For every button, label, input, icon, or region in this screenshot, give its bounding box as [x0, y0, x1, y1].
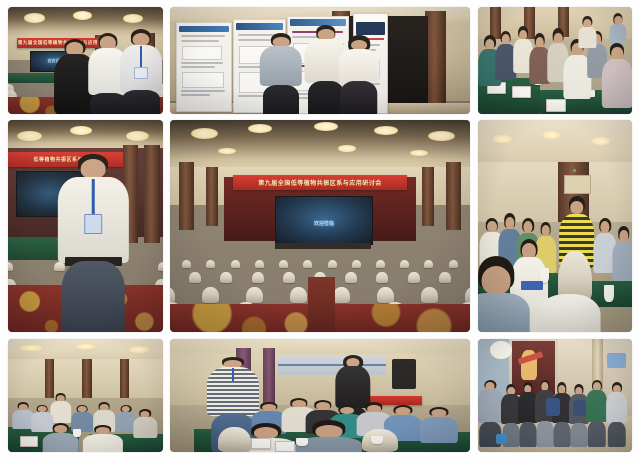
photo-2-poster-board-1 — [176, 22, 232, 112]
photo-4-delegate — [61, 154, 126, 332]
photo-5-banner: 第九届全国低等植物共振区系与应用研讨会 — [233, 175, 407, 190]
photo-9-scene — [478, 339, 632, 452]
photo-8-discussion-floor[interactable] — [170, 339, 470, 452]
photo-8-foreground-head-2 — [302, 420, 356, 452]
photo-5-main-hall[interactable]: 第九届全国低等植物共振区系与应用研讨会 欢迎莅临 — [170, 120, 470, 332]
photo-2-poster-session[interactable] — [170, 7, 470, 114]
photo-2-scene — [170, 7, 470, 114]
photo-8-scene — [170, 339, 470, 452]
photo-6-foreground-head — [478, 256, 524, 332]
photo-3-audience[interactable] — [478, 7, 632, 114]
photo-9-lobby-queue[interactable] — [478, 339, 632, 452]
photo-collage: 第九届全国低等植物共振区系与应用研讨会 会议日程 — [0, 0, 640, 460]
photo-3-scene — [478, 7, 632, 114]
photo-2-person-1 — [263, 33, 299, 114]
photo-4-scene: 低等植物共振区系与应用 — [8, 120, 163, 332]
photo-6-qa-session[interactable] — [478, 120, 632, 332]
photo-7-scene — [8, 339, 163, 452]
photo-1-person-3 — [121, 29, 161, 114]
photo-5-scene: 第九届全国低等植物共振区系与应用研讨会 欢迎莅临 — [170, 120, 470, 332]
photo-7-breakout-room[interactable] — [8, 339, 163, 452]
photo-6-foreground-white — [543, 294, 595, 332]
photo-1-group-portrait[interactable]: 第九届全国低等植物共振区系与应用研讨会 会议日程 — [8, 7, 163, 114]
photo-1-scene: 第九届全国低等植物共振区系与应用研讨会 会议日程 — [8, 7, 163, 114]
photo-4-delegate-portrait[interactable]: 低等植物共振区系与应用 — [8, 120, 163, 332]
photo-6-scene — [478, 120, 632, 332]
photo-4-badge — [84, 214, 102, 234]
photo-2-person-3 — [341, 35, 377, 114]
